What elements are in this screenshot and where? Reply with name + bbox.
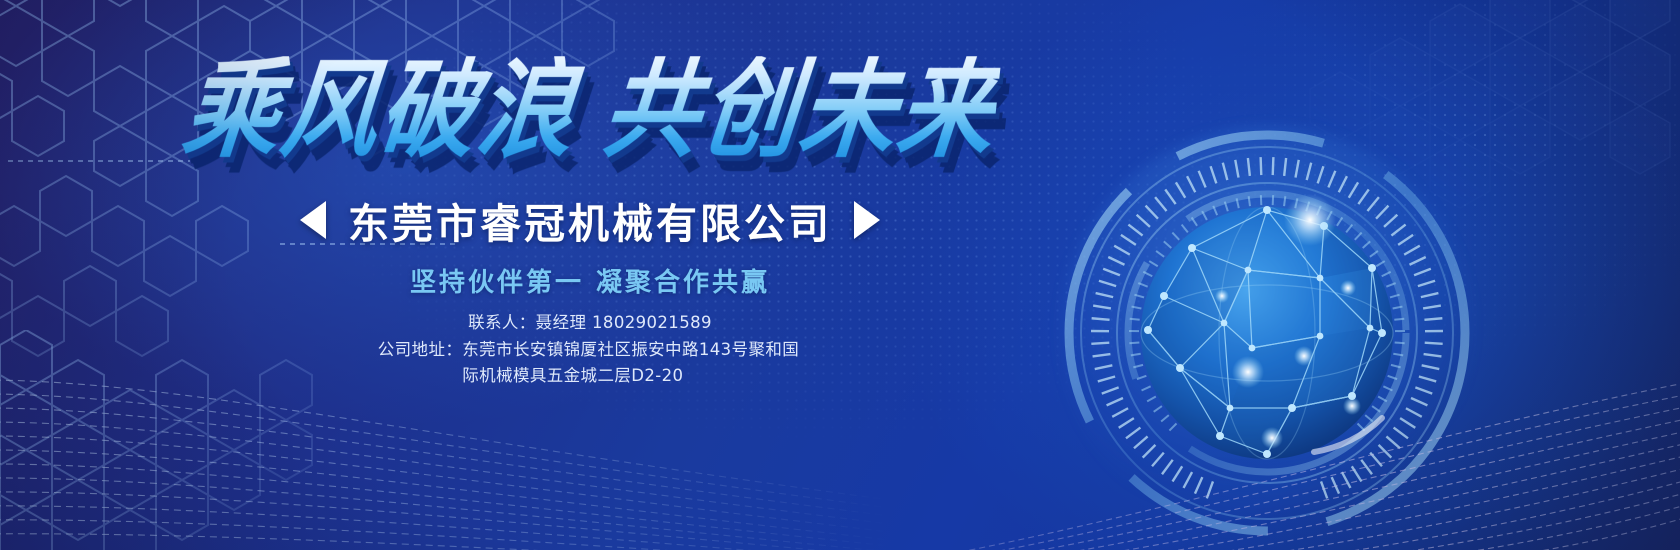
left-triangle-marker-icon xyxy=(300,201,326,239)
headline-block: 乘风破浪共创未来 xyxy=(0,62,1180,158)
right-triangle-marker-icon xyxy=(854,201,880,239)
contact-person-line: 联系人：聂经理 18029021589 xyxy=(0,310,1180,337)
wave-lines-bottom-right xyxy=(880,370,1680,550)
company-name: 东莞市睿冠机械有限公司 xyxy=(348,190,832,250)
headline-part1: 乘风破浪 xyxy=(177,47,582,172)
headline-text: 乘风破浪共创未来 xyxy=(178,56,1001,164)
slogan-text: 坚持伙伴第一 凝聚合作共赢 xyxy=(0,262,1180,299)
address-label: 公司地址： xyxy=(378,337,463,390)
headline-part2: 共创未来 xyxy=(597,47,1002,172)
address-value: 东莞市长安镇锦厦社区振安中路143号聚和国际机械模具五金城二层D2-20 xyxy=(462,337,802,390)
contact-block: 联系人：聂经理 18029021589 公司地址：东莞市长安镇锦厦社区振安中路1… xyxy=(0,310,1180,390)
company-name-row: 东莞市睿冠机械有限公司 xyxy=(0,190,1180,250)
promo-banner: 乘风破浪共创未来 东莞市睿冠机械有限公司 坚持伙伴第一 凝聚合作共赢 联系人：聂… xyxy=(0,0,1680,550)
